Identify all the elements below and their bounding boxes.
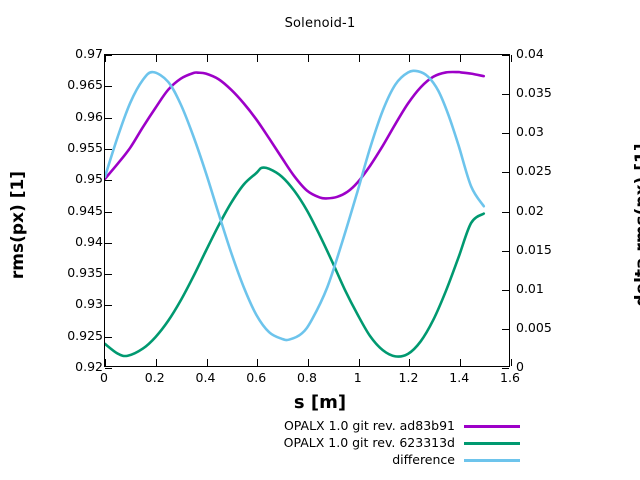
chart-figure: Solenoid-1 rms(px) [1] delta rms(px) [1]… <box>0 0 640 480</box>
y-axis-left-tick <box>105 149 112 150</box>
x-axis-tick-label: 1.4 <box>449 372 469 385</box>
x-axis-tick-label: 0.8 <box>297 372 317 385</box>
y-axis-right-tick <box>502 329 509 330</box>
series-line-1 <box>105 72 484 198</box>
y-axis-right-tick-label: 0.015 <box>516 243 552 256</box>
curves-layer <box>105 55 509 366</box>
y-axis-right-tick-label: 0.035 <box>516 87 552 100</box>
plot-area <box>104 54 510 367</box>
x-axis-tick-label: 0.6 <box>246 372 266 385</box>
x-axis-tick-top <box>105 55 106 62</box>
y-axis-left-tick-label: 0.95 <box>75 173 103 186</box>
y-axis-left-tick-label: 0.97 <box>75 48 103 61</box>
y-axis-left-tick <box>105 55 112 56</box>
y-axis-left-tick-label: 0.965 <box>67 79 103 92</box>
x-axis-tick-top <box>207 55 208 62</box>
y-axis-left-tick-label: 0.935 <box>67 267 103 280</box>
legend-item[interactable]: OPALX 1.0 git rev. ad83b91 <box>160 418 520 435</box>
x-axis-tick <box>460 359 461 366</box>
y-axis-left-tick <box>105 337 112 338</box>
page-title: Solenoid-1 <box>0 16 640 31</box>
y-axis-right-tick-label: 0.025 <box>516 165 552 178</box>
series-line-3 <box>105 71 484 340</box>
x-axis-tick-label: 0.4 <box>196 372 216 385</box>
x-axis-tick-top <box>156 55 157 62</box>
x-axis-tick-label: 1.2 <box>399 372 419 385</box>
x-axis-tick <box>156 359 157 366</box>
x-axis-tick-top <box>257 55 258 62</box>
legend-item[interactable]: OPALX 1.0 git rev. 623313d <box>160 435 520 452</box>
x-axis-tick <box>105 359 106 366</box>
x-axis-tick <box>511 359 512 366</box>
y-axis-right-tick <box>502 55 509 56</box>
y-axis-left-tick-label: 0.93 <box>75 298 103 311</box>
x-axis-tick <box>257 359 258 366</box>
y-axis-left-tick <box>105 118 112 119</box>
x-axis-tick-label: 0.2 <box>145 372 165 385</box>
legend-color-swatch <box>464 442 520 445</box>
x-axis-tick <box>308 359 309 366</box>
legend-item-label: difference <box>392 454 455 467</box>
y-axis-left-tick <box>105 180 112 181</box>
x-axis-tick-label: 1.6 <box>500 372 520 385</box>
x-axis-tick-label: 1 <box>354 372 362 385</box>
y-axis-left-title: rms(px) [1] <box>8 135 28 315</box>
y-axis-right-tick-label: 0.005 <box>516 322 552 335</box>
y-axis-right-tick <box>502 290 509 291</box>
x-axis-tick-top <box>308 55 309 62</box>
y-axis-left-tick <box>105 368 112 369</box>
y-axis-left-tick <box>105 243 112 244</box>
y-axis-left-tick-label: 0.955 <box>67 142 103 155</box>
x-axis-tick <box>409 359 410 366</box>
x-axis-tick <box>359 359 360 366</box>
y-axis-right-tick <box>502 368 509 369</box>
legend-color-swatch <box>464 459 520 462</box>
x-axis-title: s [m] <box>0 392 640 413</box>
y-axis-right-tick <box>502 94 509 95</box>
y-axis-right-tick <box>502 172 509 173</box>
y-axis-left-tick-label: 0.92 <box>75 361 103 374</box>
y-axis-left-tick <box>105 212 112 213</box>
y-axis-left-tick-label: 0.925 <box>67 329 103 342</box>
y-axis-left-tick-label: 0.945 <box>67 204 103 217</box>
legend-item-label: OPALX 1.0 git rev. ad83b91 <box>284 420 455 433</box>
y-axis-right-tick-label: 0.04 <box>516 48 544 61</box>
x-axis-tick-top <box>359 55 360 62</box>
y-axis-right-title: delta rms(px) [1] <box>632 105 640 345</box>
legend-color-swatch <box>464 425 520 428</box>
legend-item[interactable]: difference <box>160 452 520 469</box>
y-axis-right-tick-label: 0.02 <box>516 204 544 217</box>
y-axis-left-tick <box>105 274 112 275</box>
y-axis-left-tick-label: 0.94 <box>75 236 103 249</box>
x-axis-tick-top <box>409 55 410 62</box>
y-axis-left-tick <box>105 86 112 87</box>
legend: OPALX 1.0 git rev. ad83b91OPALX 1.0 git … <box>160 418 520 469</box>
x-axis-tick-label: 0 <box>100 372 108 385</box>
x-axis-tick <box>207 359 208 366</box>
x-axis-tick-top <box>460 55 461 62</box>
series-line-2 <box>105 168 484 357</box>
y-axis-right-tick <box>502 212 509 213</box>
x-axis-tick-top <box>511 55 512 62</box>
y-axis-left-tick-label: 0.96 <box>75 110 103 123</box>
y-axis-right-tick <box>502 251 509 252</box>
y-axis-right-tick-label: 0.03 <box>516 126 544 139</box>
y-axis-right-tick <box>502 133 509 134</box>
legend-item-label: OPALX 1.0 git rev. 623313d <box>284 437 455 450</box>
y-axis-left-tick <box>105 305 112 306</box>
y-axis-right-tick-label: 0.01 <box>516 283 544 296</box>
